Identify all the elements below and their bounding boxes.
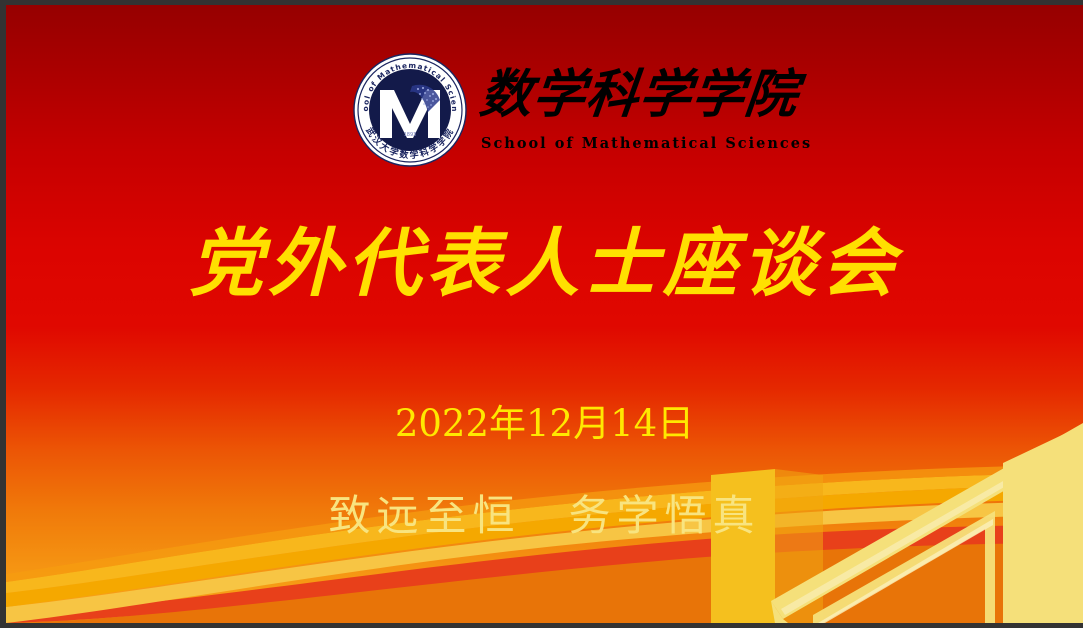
university-emblem-icon: School of Mathematical Sciences 武汉大学数学科学… (352, 52, 468, 168)
svg-text:1893: 1893 (404, 132, 417, 138)
logo-chinese-name: 数学科学学院 (476, 59, 746, 131)
slide-canvas: School of Mathematical Sciences 武汉大学数学科学… (6, 5, 1083, 623)
logo-wordmark: 数学科学学院 School of Mathematical Sciences (480, 57, 742, 169)
slide-title: 党外代表人士座谈会 (6, 216, 1083, 312)
logo-english-name: School of Mathematical Sciences (481, 135, 743, 152)
school-logo-block: School of Mathematical Sciences 武汉大学数学科学… (352, 52, 742, 174)
event-date: 2022年12月14日 (6, 397, 1083, 451)
slide-outer-frame: School of Mathematical Sciences 武汉大学数学科学… (0, 0, 1083, 628)
school-motto: 致远至恒 务学悟真 (6, 487, 1083, 545)
